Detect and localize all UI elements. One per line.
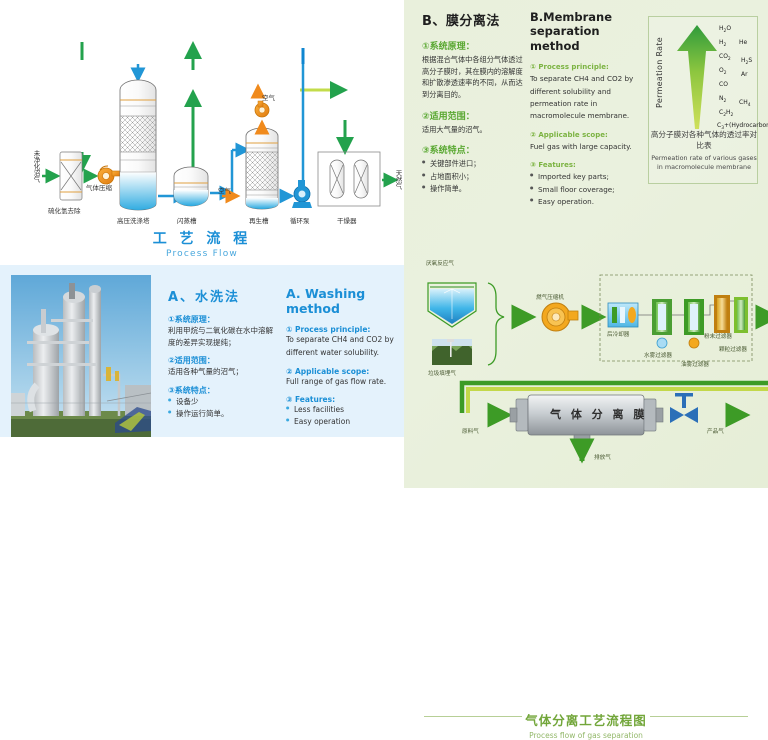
gas-row-2-primary: H2	[719, 39, 726, 48]
source-bracket	[488, 283, 504, 365]
label-circulation-pump: 循环泵	[290, 215, 310, 225]
label-dryer: 干燥器	[337, 215, 357, 225]
washing-scope-title-cn: ②适用范围：	[168, 355, 278, 366]
membrane-chinese-block: B、膜分离法 ①系统原理： 根据混合气体中各组分气体透过高分子膜时，其在膜内的溶…	[422, 10, 526, 196]
landfill-photo-icon	[432, 339, 472, 365]
permeation-rate-chart: Permeation Rate H2O H2 He CO2 H2S O2 Ar …	[648, 16, 758, 184]
permeation-rate-axis-label: Permeation Rate	[655, 37, 664, 108]
washing-features-title-en: ③ Features:	[286, 395, 404, 404]
membrane-principle-body-cn: 根据混合气体中各组分气体透过高分子膜时，其在膜内的溶解度和扩散渗透速率的不同，从…	[422, 54, 526, 101]
washing-heading-cn: A、水洗法	[168, 286, 278, 305]
permeation-caption: 高分子膜对各种气体的透过率对比表 Permeation rate of vari…	[649, 129, 759, 172]
gas-row-6-primary: N2	[719, 95, 726, 104]
membrane-principle-body-en: To separate CH4 and CO2 by different sol…	[530, 73, 638, 123]
plant-photo	[11, 275, 151, 437]
regen-blower	[255, 101, 269, 117]
membrane-feature-cn-2: 占地面积小；	[422, 171, 526, 184]
after-cooler-icon	[608, 303, 638, 327]
process-flow-svg	[0, 0, 404, 230]
membrane-english-block: B.Membrane separation method ① Process p…	[530, 10, 638, 209]
gas-separation-diagram: 厌氧反应气 垃圾填埋气 燃气压缩机 后冷却器 水雾过滤器 油雾过滤器 粉末过滤器…	[404, 255, 768, 488]
washing-chinese-block: A、水洗法 ①系统原理： 利用甲烷与二氧化碳在水中溶解度的差异实现提纯； ②适用…	[168, 286, 278, 420]
process-flow-title-en: Process Flow	[0, 249, 404, 259]
gas-separation-title: 气体分离工艺流程图 Process flow of gas separation	[404, 710, 768, 740]
flash-tank	[174, 167, 208, 206]
label-flash-tank: 闪蒸槽	[177, 215, 197, 225]
circulation-pump	[292, 180, 312, 208]
washing-feature-en-1: Less facilities	[286, 404, 404, 416]
membrane-heading-cn: B、膜分离法	[422, 10, 526, 29]
water-mist-filter-icon	[652, 299, 672, 348]
membrane-scope-title-cn: ②适用范围：	[422, 109, 526, 122]
membrane-feature-en-2: Small floor coverage;	[530, 184, 638, 197]
washing-scope-title-en: ② Applicable scope:	[286, 367, 404, 376]
permeation-triangle-icon	[675, 23, 719, 133]
right-column: B、膜分离法 ①系统原理： 根据混合气体中各组分气体透过高分子膜时，其在膜内的溶…	[404, 0, 768, 488]
label-raw-biogas: 未净化沼气	[31, 150, 41, 183]
label-water-mist-filter: 水雾过滤器	[644, 351, 672, 359]
washing-features-title-cn: ③系统特点：	[168, 385, 278, 396]
permeation-caption-cn: 高分子膜对各种气体的透过率对比表	[649, 129, 759, 151]
powder-filter-icon	[714, 295, 730, 333]
label-natural-gas: 天然气	[393, 170, 403, 190]
label-oil-mist-filter: 油雾过滤器	[681, 360, 709, 368]
dryer-unit	[318, 152, 380, 206]
gas-separation-title-cn: 气体分离工艺流程图	[404, 710, 768, 729]
label-regen-tank: 再生槽	[249, 215, 269, 225]
label-h2s-removal: 硫化氢去除	[48, 205, 81, 215]
washing-principle-title-cn: ①系统原理：	[168, 314, 278, 325]
washing-scope-body-cn: 适用各种气量的沼气；	[168, 366, 278, 378]
label-powder-filter: 粉末过滤器	[704, 332, 732, 340]
label-anaerobic-gas: 厌氧反应气	[426, 259, 454, 267]
poster-page: 未净化沼气 硫化氢去除 气体压缩 高压洗涤塔 闪蒸槽 空气 空气 再生槽 循环泵…	[0, 0, 768, 488]
washing-principle-body-cn: 利用甲烷与二氧化碳在水中溶解度的差异实现提纯；	[168, 325, 278, 348]
label-feed-gas: 原料气	[462, 427, 479, 435]
particle-filter-icon	[734, 297, 748, 333]
washing-scope-body-en: Full range of gas flow rate.	[286, 376, 404, 389]
membrane-principle-title-cn: ①系统原理：	[422, 39, 526, 52]
label-air-outlet: 空气	[262, 92, 275, 102]
permeation-caption-en: Permeation rate of various gases in macr…	[649, 154, 759, 172]
label-vent-gas: 排放气	[594, 453, 611, 461]
gas-row-7-primary: C2H2	[719, 109, 733, 118]
membrane-feature-en-1: Imported key parts;	[530, 171, 638, 184]
gas-row-3-primary: CO2	[719, 53, 731, 62]
left-column: 未净化沼气 硫化氢去除 气体压缩 高压洗涤塔 闪蒸槽 空气 空气 再生槽 循环泵…	[0, 0, 404, 488]
membrane-principle-title-en: ① Process principle:	[530, 63, 638, 71]
gas-row-1-primary: H2O	[719, 25, 731, 34]
membrane-features-title-en: ③ Features:	[530, 161, 638, 169]
label-product-gas: 产品气	[707, 427, 724, 435]
gas-row-6-secondary: CH4	[739, 99, 751, 108]
label-after-cooler: 后冷却器	[607, 330, 629, 338]
regeneration-tank	[246, 128, 278, 209]
product-valve-icon	[670, 393, 698, 423]
label-gas-compression: 气体压缩	[86, 182, 112, 192]
label-hp-scrubber: 高压洗涤塔	[117, 215, 150, 225]
gas-row-2-secondary: He	[739, 39, 747, 46]
gas-separation-title-en: Process flow of gas separation	[404, 731, 768, 740]
membrane-scope-body-cn: 适用大气量的沼气。	[422, 124, 526, 136]
washing-feature-cn-1: 设备少	[168, 396, 278, 408]
gas-row-5-primary: CO	[719, 81, 728, 88]
washing-principle-title-en: ① Process principle:	[286, 325, 404, 334]
process-flow-title-cn: 工 艺 流 程	[0, 228, 404, 248]
washing-feature-cn-2: 操作运行简单。	[168, 408, 278, 420]
hp-scrubber-column	[120, 80, 156, 210]
membrane-heading-en: B.Membrane separation method	[530, 10, 638, 53]
label-landfill-gas: 垃圾填埋气	[428, 369, 456, 377]
process-flow-diagram: 未净化沼气 硫化氢去除 气体压缩 高压洗涤塔 闪蒸槽 空气 空气 再生槽 循环泵…	[0, 0, 404, 265]
label-air-inlet: 空气	[218, 185, 231, 195]
label-membrane-module: 气 体 分 离 膜	[550, 406, 647, 422]
membrane-feature-cn-1: 关键部件进口；	[422, 158, 526, 171]
membrane-feature-cn-3: 操作简单。	[422, 183, 526, 196]
membrane-scope-body-en: Fuel gas with large capacity.	[530, 141, 638, 153]
label-particle-filter: 颗粒过滤器	[719, 345, 747, 353]
gas-row-4-secondary: Ar	[741, 71, 748, 78]
gas-row-4-primary: O2	[719, 67, 727, 76]
washing-english-block: A. Washing method ① Process principle: T…	[286, 286, 404, 428]
washing-feature-en-2: Easy operation	[286, 416, 404, 428]
h2s-removal-vessel	[60, 152, 82, 200]
label-gas-compressor: 燃气压缩机	[536, 293, 564, 301]
membrane-features-title-cn: ③系统特点：	[422, 143, 526, 156]
gas-row-3-secondary: H2S	[741, 57, 752, 66]
oil-mist-filter-icon	[684, 299, 704, 348]
membrane-feature-en-3: Easy operation.	[530, 196, 638, 209]
washing-heading-en: A. Washing method	[286, 286, 404, 316]
washing-principle-body-en: To separate CH4 and CO2 by different wat…	[286, 334, 404, 360]
anaerobic-digester-icon	[428, 283, 476, 327]
gas-compressor-icon	[542, 303, 578, 331]
process-flow-title: 工 艺 流 程 Process Flow	[0, 228, 404, 259]
membrane-scope-title-en: ② Applicable scope:	[530, 131, 638, 139]
